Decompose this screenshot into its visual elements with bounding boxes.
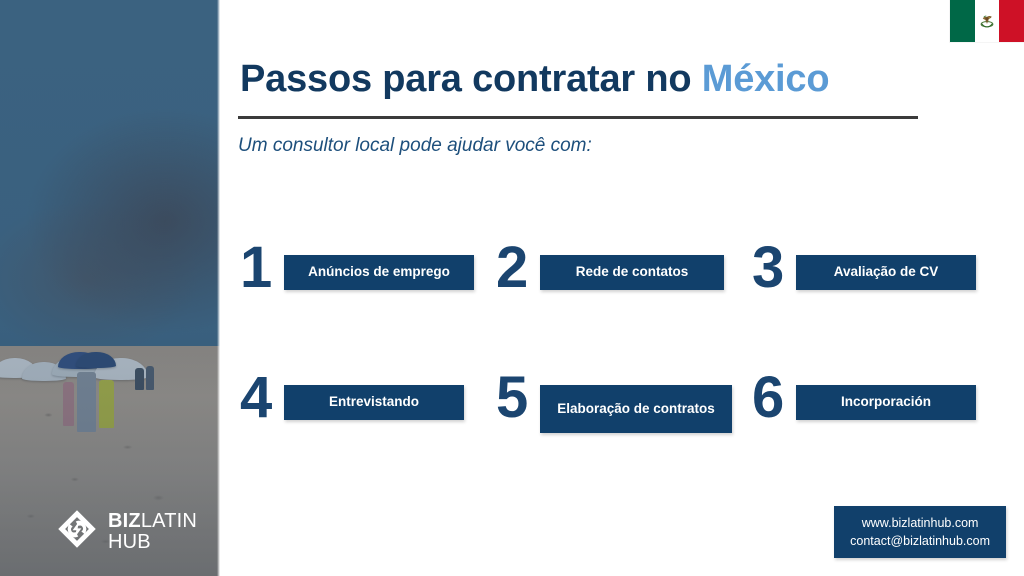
bizlatinhub-logo: BIZLATIN HUB: [57, 509, 197, 554]
step-item-2: 2 Rede de contatos: [496, 238, 752, 368]
step-number-2: 2: [496, 242, 540, 293]
beach-photo-panel: BIZLATIN HUB: [0, 0, 220, 576]
contact-email[interactable]: contact@bizlatinhub.com: [850, 532, 990, 550]
step-label-2: Rede de contatos: [540, 255, 724, 290]
step-item-3: 3 Avaliação de CV: [752, 238, 1008, 368]
contact-box: www.bizlatinhub.com contact@bizlatinhub.…: [834, 506, 1006, 558]
step-number-6: 6: [752, 372, 796, 423]
photo-right-edge-fade: [217, 0, 220, 576]
step-label-3: Avaliação de CV: [796, 255, 976, 290]
flag-white-band: [975, 0, 1000, 42]
logo-wordmark: BIZLATIN HUB: [108, 511, 197, 552]
step-label-6: Incorporación: [796, 385, 976, 420]
step-number-1: 1: [240, 242, 284, 293]
steps-grid: 1 Anúncios de emprego 2 Rede de contatos…: [240, 238, 1010, 498]
title-divider: [238, 116, 918, 119]
title-accent-country: México: [702, 58, 830, 100]
logo-latin: LATIN: [141, 510, 197, 532]
logo-hub: HUB: [108, 532, 197, 552]
step-item-6: 6 Incorporación: [752, 368, 1008, 498]
flag-red-band: [999, 0, 1024, 42]
step-number-5: 5: [496, 372, 540, 423]
step-item-1: 1 Anúncios de emprego: [240, 238, 496, 368]
mexican-coat-of-arms-icon: [978, 13, 995, 30]
flag-green-band: [950, 0, 975, 42]
contact-website[interactable]: www.bizlatinhub.com: [850, 514, 990, 532]
step-number-4: 4: [240, 372, 284, 423]
page-subtitle: Um consultor local pode ajudar você com:: [238, 135, 592, 157]
logo-biz: BIZ: [108, 510, 141, 532]
slide-root: BIZLATIN HUB Passos para contratar no Mé…: [0, 0, 1024, 576]
title-main: Passos para contratar no: [240, 58, 702, 100]
step-label-5: Elaboração de contratos: [540, 385, 732, 433]
step-label-1: Anúncios de emprego: [284, 255, 474, 290]
page-title: Passos para contratar no México: [240, 58, 829, 101]
bizlatinhub-diamond-icon: [57, 509, 97, 554]
mexico-flag-icon: [950, 0, 1024, 42]
step-label-4: Entrevistando: [284, 385, 464, 420]
step-item-4: 4 Entrevistando: [240, 368, 496, 498]
step-item-5: 5 Elaboração de contratos: [496, 368, 752, 498]
step-number-3: 3: [752, 242, 796, 293]
photo-blue-overlay: [0, 0, 220, 576]
